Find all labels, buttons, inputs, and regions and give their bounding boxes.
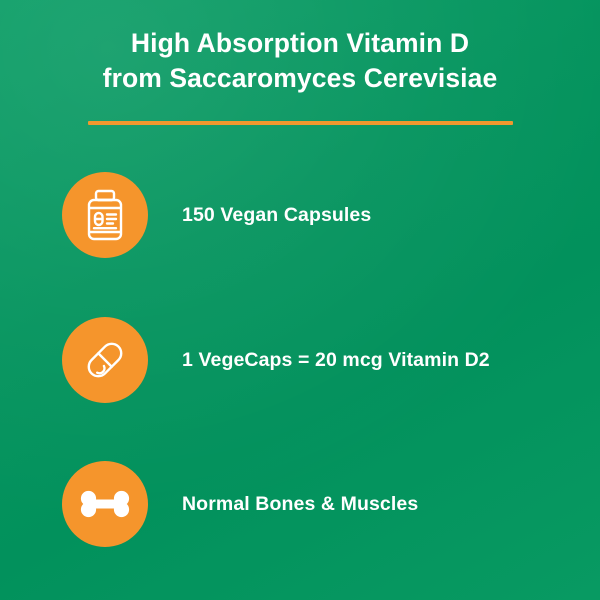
feature-label: 150 Vegan Capsules: [182, 204, 371, 227]
bone-icon: [79, 489, 131, 519]
product-feature-infographic: High Absorption Vitamin D from Saccaromy…: [0, 0, 600, 600]
page-title-line-1: High Absorption Vitamin D: [0, 26, 600, 61]
feature-row: Normal Bones & Muscles: [62, 461, 562, 547]
title-divider: [88, 121, 513, 125]
feature-icon-badge: [62, 172, 148, 258]
supplement-bottle-icon: [82, 189, 128, 241]
page-title-line-2: from Saccaromyces Cerevisiae: [0, 61, 600, 96]
feature-icon-badge: [62, 461, 148, 547]
feature-row: 150 Vegan Capsules: [62, 172, 562, 258]
feature-icon-badge: [62, 317, 148, 403]
feature-label: Normal Bones & Muscles: [182, 493, 418, 516]
feature-row: 1 VegeCaps = 20 mcg Vitamin D2: [62, 317, 562, 403]
header-block: High Absorption Vitamin D from Saccaromy…: [0, 26, 600, 96]
feature-label: 1 VegeCaps = 20 mcg Vitamin D2: [182, 349, 490, 372]
capsule-pill-icon: [78, 333, 132, 387]
